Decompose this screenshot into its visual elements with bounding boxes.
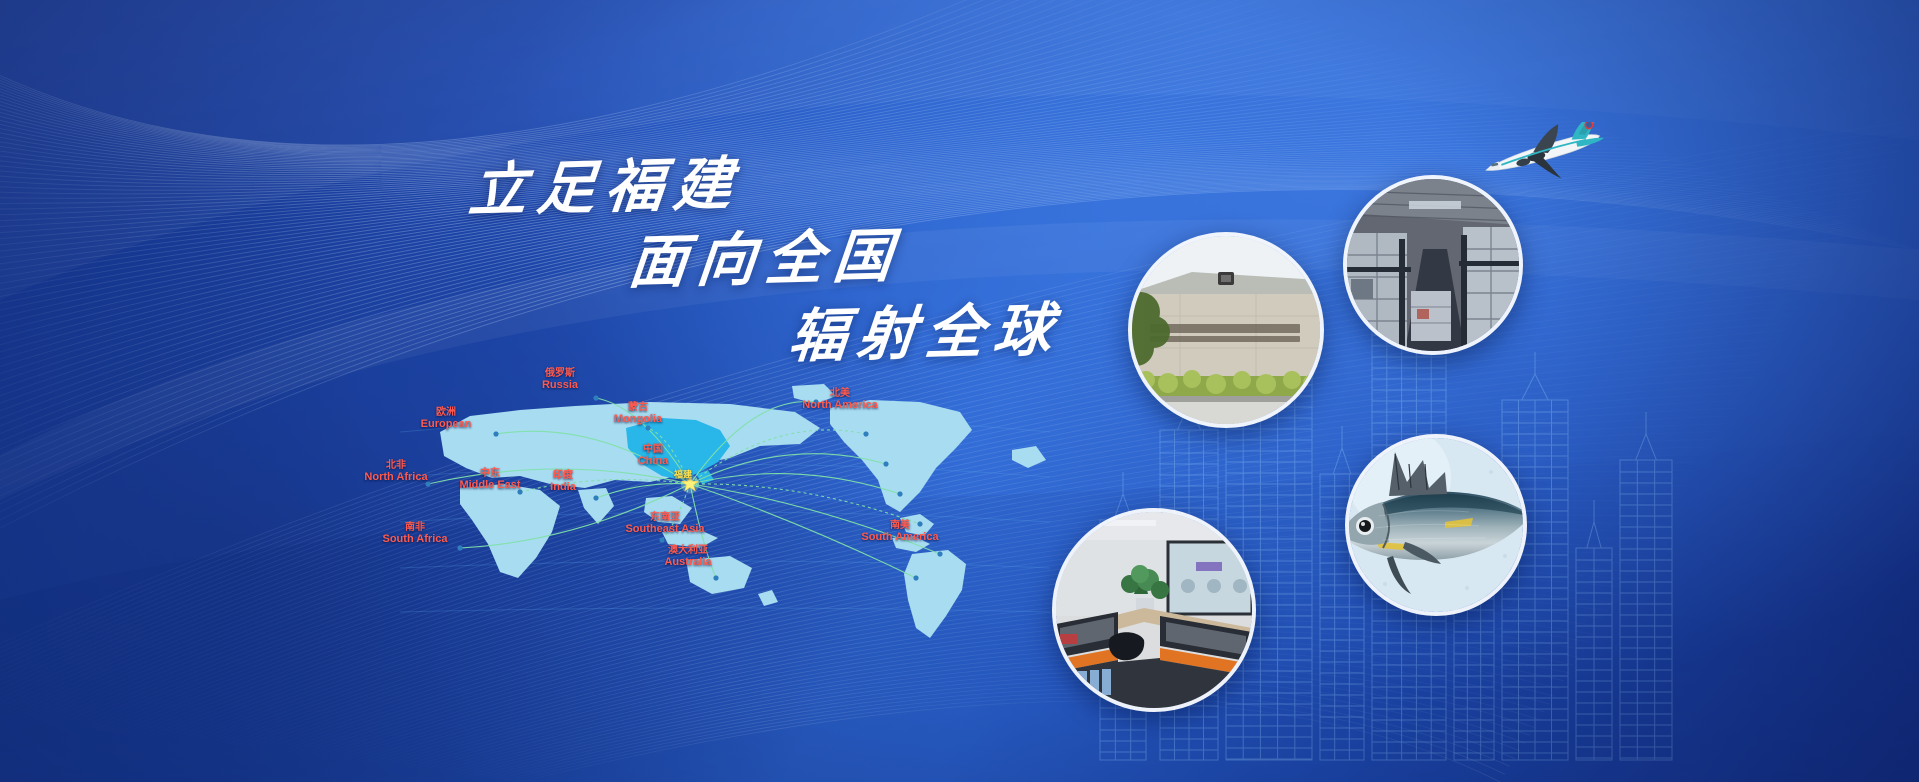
world-map-graphic: [400, 372, 1050, 662]
map-label-cn: 东南亚: [625, 513, 704, 524]
map-label-en: North Africa: [364, 471, 427, 483]
slogan-line-2: 面向全国: [626, 208, 907, 299]
map-label-european[interactable]: 欧洲European: [421, 408, 472, 430]
map-label-cn: 俄罗斯: [542, 369, 578, 380]
map-label-cn: 澳大利亚: [664, 546, 711, 557]
cold-storage-image: [1347, 179, 1519, 351]
map-label-cn: 欧洲: [421, 408, 472, 419]
world-map: 俄罗斯Russia蒙古Mongolia欧洲European中国China北非No…: [400, 372, 1050, 662]
map-label-cn: 蒙古: [614, 403, 662, 414]
map-label-russia[interactable]: 俄罗斯Russia: [542, 369, 578, 391]
photo-tuna-fish[interactable]: [1345, 434, 1527, 616]
photo-office[interactable]: [1052, 508, 1256, 712]
company-building-image: [1132, 236, 1320, 424]
map-label-middle-east[interactable]: 中东Middle East: [459, 469, 520, 491]
map-label-hub-fujian[interactable]: 福建: [674, 470, 692, 479]
photo-cold-storage[interactable]: [1343, 175, 1523, 355]
map-label-en: South Africa: [383, 533, 448, 545]
office-image: [1056, 512, 1252, 708]
slogan-block: 立足福建 面向全国 辐射全球: [470, 140, 1130, 360]
map-label-cn: 印度: [550, 471, 576, 482]
photo-company-building[interactable]: [1128, 232, 1324, 428]
map-label-en: China: [638, 455, 669, 467]
map-label-north-america[interactable]: 北美North America: [802, 389, 877, 411]
map-label-australia[interactable]: 澳大利亚Australia: [664, 546, 711, 568]
map-label-cn: 中东: [459, 469, 520, 480]
banner-stage: 立足福建 面向全国 辐射全球: [0, 0, 1919, 782]
map-label-south-africa[interactable]: 南非South Africa: [383, 523, 448, 545]
map-label-mongolia[interactable]: 蒙古Mongolia: [614, 403, 662, 425]
map-landmass-icon: [440, 384, 1046, 638]
map-label-en: Southeast Asia: [625, 523, 704, 535]
map-label-cn: 南美: [861, 521, 938, 532]
map-label-en: Middle East: [459, 479, 520, 491]
map-label-north-africa[interactable]: 北非North Africa: [364, 461, 427, 483]
map-label-south-america[interactable]: 南美South America: [861, 521, 938, 543]
map-label-cn: 中国: [638, 445, 669, 456]
map-label-en: European: [421, 418, 472, 430]
map-label-cn: 北非: [364, 461, 427, 472]
airplane-icon: [1478, 122, 1608, 186]
map-label-china[interactable]: 中国China: [638, 445, 669, 467]
tuna-fish-image: [1349, 438, 1523, 612]
map-label-southeast-asia[interactable]: 东南亚Southeast Asia: [625, 513, 704, 535]
slogan-line-3: 辐射全球: [786, 282, 1067, 373]
map-label-en: Australia: [664, 556, 711, 568]
map-label-en: South America: [861, 531, 938, 543]
map-label-en: Mongolia: [614, 413, 662, 425]
map-label-en: North America: [802, 399, 877, 411]
map-label-india[interactable]: 印度India: [550, 471, 576, 493]
map-label-cn: 北美: [802, 389, 877, 400]
map-label-en: Russia: [542, 379, 578, 391]
map-label-en: India: [550, 481, 576, 493]
map-label-cn: 南非: [383, 523, 448, 534]
map-label-cn: 福建: [674, 470, 692, 479]
